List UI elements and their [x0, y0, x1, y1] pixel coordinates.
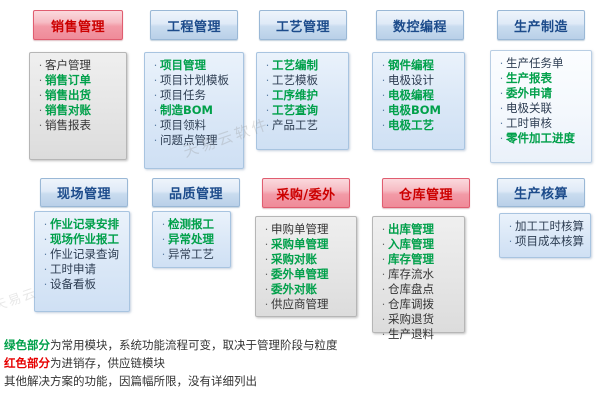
bullet-icon: · — [379, 282, 388, 297]
module-item[interactable]: ·项目任务 — [151, 88, 239, 103]
module-item[interactable]: ·项目领料 — [151, 118, 239, 133]
bullet-icon: · — [151, 58, 160, 73]
module-header-label: 销售管理 — [51, 16, 105, 35]
module-item-label: 委外单管理 — [271, 267, 329, 282]
bullet-icon: · — [262, 297, 271, 312]
module-item-label: 采购退货 — [388, 312, 434, 327]
module-item-label: 工序维护 — [272, 88, 318, 103]
module-item-label: 供应商管理 — [271, 297, 329, 312]
module-item[interactable]: ·客户管理 — [36, 58, 122, 73]
module-item-label: 电极工艺 — [388, 118, 434, 133]
module-header-label: 仓库管理 — [399, 184, 453, 203]
module-item-label: 工艺编制 — [272, 58, 318, 73]
module-body-sales-management: ·客户管理·销售订单·销售出货·销售对账·销售报表 — [29, 52, 127, 160]
bullet-icon: · — [263, 58, 272, 73]
module-item[interactable]: ·产品工艺 — [263, 118, 344, 133]
module-item-label: 生产任务单 — [506, 56, 564, 71]
bullet-icon: · — [506, 234, 515, 249]
module-item-label: 委外对账 — [271, 282, 317, 297]
module-item[interactable]: ·销售报表 — [36, 118, 122, 133]
module-item-label: 项目计划模板 — [160, 73, 229, 88]
module-item-label: 生产报表 — [506, 71, 552, 86]
bullet-icon: · — [263, 118, 272, 133]
module-item-label: 设备看板 — [50, 277, 96, 292]
bullet-icon: · — [41, 232, 50, 247]
module-item[interactable]: ·采购退货 — [379, 312, 460, 327]
module-header-label: 生产制造 — [514, 16, 568, 35]
module-item[interactable]: ·委外对账 — [262, 282, 352, 297]
bullet-icon: · — [379, 267, 388, 282]
legend-red-text: 为进销存，供应链模块 — [50, 356, 165, 370]
bullet-icon: · — [151, 103, 160, 118]
bullet-icon: · — [36, 73, 45, 88]
module-header-production-manufacturing[interactable]: 生产制造 — [497, 10, 585, 40]
module-item-label: 入库管理 — [388, 237, 434, 252]
module-item-label: 电极编程 — [388, 88, 434, 103]
module-item-label: 现场作业报工 — [50, 232, 119, 247]
module-item[interactable]: ·采购单管理 — [262, 237, 352, 252]
bullet-icon: · — [379, 312, 388, 327]
module-body-engineering-management: ·项目管理·项目计划模板·项目任务·制造BOM·项目领料·问题点管理 — [144, 52, 244, 169]
module-item[interactable]: ·销售出货 — [36, 88, 122, 103]
module-item[interactable]: ·项目管理 — [151, 58, 239, 73]
module-header-engineering-management[interactable]: 工程管理 — [150, 10, 238, 40]
module-item[interactable]: ·仓库盘点 — [379, 282, 460, 297]
module-header-purchase-outsourcing[interactable]: 采购/委外 — [262, 178, 350, 208]
bullet-icon: · — [263, 103, 272, 118]
module-item-label: 作业记录查询 — [50, 247, 119, 262]
bullet-icon: · — [41, 217, 50, 232]
module-item[interactable]: ·现场作业报工 — [41, 232, 125, 247]
bullet-icon: · — [379, 58, 388, 73]
module-header-field-management[interactable]: 现场管理 — [40, 178, 128, 207]
module-item-label: 制造BOM — [160, 103, 213, 118]
module-item[interactable]: ·作业记录查询 — [41, 247, 125, 262]
legend-red-key: 红色部分 — [4, 356, 50, 370]
module-item[interactable]: ·工艺查询 — [263, 103, 344, 118]
module-item[interactable]: ·检测报工 — [159, 217, 226, 232]
module-item-label: 电极BOM — [388, 103, 441, 118]
module-item[interactable]: ·工序维护 — [263, 88, 344, 103]
module-item-label: 仓库调拨 — [388, 297, 434, 312]
module-header-warehouse-management[interactable]: 仓库管理 — [382, 178, 470, 208]
legend-line-note: 其他解决方案的功能，因篇幅所限，没有详细列出 — [4, 372, 424, 390]
module-item[interactable]: ·钢件编程 — [379, 58, 460, 73]
bullet-icon: · — [36, 103, 45, 118]
bullet-icon: · — [36, 58, 45, 73]
module-item[interactable]: ·供应商管理 — [262, 297, 352, 312]
bullet-icon: · — [497, 71, 506, 86]
module-item-label: 采购单管理 — [271, 237, 329, 252]
bullet-icon: · — [263, 73, 272, 88]
module-item[interactable]: ·库存流水 — [379, 267, 460, 282]
module-item[interactable]: ·电极关联 — [497, 101, 587, 116]
module-item[interactable]: ·制造BOM — [151, 103, 239, 118]
bullet-icon: · — [262, 252, 271, 267]
module-item[interactable]: ·工时申请 — [41, 262, 125, 277]
module-item-label: 客户管理 — [45, 58, 91, 73]
bullet-icon: · — [379, 88, 388, 103]
bullet-icon: · — [159, 247, 168, 262]
bullet-icon: · — [379, 237, 388, 252]
module-header-label: 生产核算 — [514, 183, 568, 202]
module-item[interactable]: ·异常工艺 — [159, 247, 226, 262]
diagram-canvas: 销售管理·客户管理·销售订单·销售出货·销售对账·销售报表工程管理·项目管理·项… — [0, 0, 600, 400]
module-item[interactable]: ·仓库调拨 — [379, 297, 460, 312]
module-item[interactable]: ·电极编程 — [379, 88, 460, 103]
module-item[interactable]: ·工艺模板 — [263, 73, 344, 88]
module-item-label: 异常处理 — [168, 232, 214, 247]
module-header-sales-management[interactable]: 销售管理 — [33, 10, 123, 40]
module-body-field-management: ·作业记录安排·现场作业报工·作业记录查询·工时申请·设备看板 — [34, 211, 130, 312]
module-header-quality-management[interactable]: 品质管理 — [152, 178, 240, 207]
bullet-icon: · — [151, 73, 160, 88]
module-item-label: 产品工艺 — [272, 118, 318, 133]
module-item[interactable]: ·项目成本核算 — [506, 234, 586, 249]
module-item[interactable]: ·电极BOM — [379, 103, 460, 118]
module-item-label: 工时审核 — [506, 116, 552, 131]
module-item[interactable]: ·入库管理 — [379, 237, 460, 252]
legend-line-green: 绿色部分为常用模块，系统功能流程可变，取决于管理阶段与粒度 — [4, 336, 424, 354]
module-item-label: 问题点管理 — [160, 133, 218, 148]
bullet-icon: · — [262, 267, 271, 282]
bullet-icon: · — [36, 88, 45, 103]
bullet-icon: · — [151, 133, 160, 148]
bullet-icon: · — [379, 103, 388, 118]
module-item[interactable]: ·工艺编制 — [263, 58, 344, 73]
module-item-label: 库存流水 — [388, 267, 434, 282]
bullet-icon: · — [497, 56, 506, 71]
module-item[interactable]: ·加工工时核算 — [506, 219, 586, 234]
module-header-label: 数控编程 — [393, 16, 447, 35]
module-item-label: 销售对账 — [45, 103, 91, 118]
module-header-label: 工程管理 — [167, 16, 221, 35]
module-item-label: 销售订单 — [45, 73, 91, 88]
module-item-label: 项目管理 — [160, 58, 206, 73]
bullet-icon: · — [497, 131, 506, 146]
module-item[interactable]: ·采购对账 — [262, 252, 352, 267]
bullet-icon: · — [497, 86, 506, 101]
module-item-label: 电极关联 — [506, 101, 552, 116]
bullet-icon: · — [263, 88, 272, 103]
bullet-icon: · — [262, 222, 271, 237]
module-header-label: 工艺管理 — [276, 16, 330, 35]
module-item[interactable]: ·委外申请 — [497, 86, 587, 101]
module-item[interactable]: ·电极工艺 — [379, 118, 460, 133]
bullet-icon: · — [151, 118, 160, 133]
module-header-nc-programming[interactable]: 数控编程 — [376, 10, 464, 40]
module-item[interactable]: ·委外单管理 — [262, 267, 352, 282]
legend-green-key: 绿色部分 — [4, 338, 50, 352]
module-item-label: 电极设计 — [388, 73, 434, 88]
bullet-icon: · — [262, 282, 271, 297]
module-item[interactable]: ·异常处理 — [159, 232, 226, 247]
module-item-label: 采购对账 — [271, 252, 317, 267]
bullet-icon: · — [379, 73, 388, 88]
module-item-label: 项目领料 — [160, 118, 206, 133]
module-item-label: 检测报工 — [168, 217, 214, 232]
legend-green-text: 为常用模块，系统功能流程可变，取决于管理阶段与粒度 — [50, 338, 338, 352]
module-item[interactable]: ·作业记录安排 — [41, 217, 125, 232]
module-item-label: 项目任务 — [160, 88, 206, 103]
module-body-production-accounting: ·加工工时核算·项目成本核算 — [499, 213, 591, 258]
module-item-label: 加工工时核算 — [515, 219, 584, 234]
bullet-icon: · — [262, 237, 271, 252]
module-item-label: 委外申请 — [506, 86, 552, 101]
module-body-purchase-outsourcing: ·申购单管理·采购单管理·采购对账·委外单管理·委外对账·供应商管理 — [255, 216, 357, 317]
module-item[interactable]: ·设备看板 — [41, 277, 125, 292]
module-body-warehouse-management: ·出库管理·入库管理·库存管理·库存流水·仓库盘点·仓库调拨·采购退货·生产退料 — [372, 216, 465, 333]
module-item-label: 销售出货 — [45, 88, 91, 103]
bullet-icon: · — [506, 219, 515, 234]
module-item-label: 工时申请 — [50, 262, 96, 277]
module-item[interactable]: ·电极设计 — [379, 73, 460, 88]
module-item[interactable]: ·零件加工进度 — [497, 131, 587, 146]
module-item[interactable]: ·销售对账 — [36, 103, 122, 118]
module-header-label: 采购/委外 — [276, 184, 335, 203]
module-item[interactable]: ·生产任务单 — [497, 56, 587, 71]
module-item[interactable]: ·工时审核 — [497, 116, 587, 131]
module-item[interactable]: ·问题点管理 — [151, 133, 239, 148]
bullet-icon: · — [41, 262, 50, 277]
module-header-label: 现场管理 — [57, 183, 111, 202]
module-item[interactable]: ·生产报表 — [497, 71, 587, 86]
module-item[interactable]: ·申购单管理 — [262, 222, 352, 237]
bullet-icon: · — [41, 277, 50, 292]
bullet-icon: · — [379, 222, 388, 237]
module-item-label: 零件加工进度 — [506, 131, 575, 146]
bullet-icon: · — [497, 116, 506, 131]
bullet-icon: · — [497, 101, 506, 116]
module-item-label: 工艺查询 — [272, 103, 318, 118]
bullet-icon: · — [159, 232, 168, 247]
module-item-label: 申购单管理 — [271, 222, 329, 237]
module-item-label: 工艺模板 — [272, 73, 318, 88]
module-header-production-accounting[interactable]: 生产核算 — [497, 178, 585, 207]
legend: 绿色部分为常用模块，系统功能流程可变，取决于管理阶段与粒度 红色部分为进销存，供… — [4, 336, 424, 390]
module-item[interactable]: ·出库管理 — [379, 222, 460, 237]
bullet-icon: · — [379, 252, 388, 267]
module-body-quality-management: ·检测报工·异常处理·异常工艺 — [152, 211, 231, 268]
bullet-icon: · — [379, 297, 388, 312]
bullet-icon: · — [41, 247, 50, 262]
module-item-label: 仓库盘点 — [388, 282, 434, 297]
module-body-process-management: ·工艺编制·工艺模板·工序维护·工艺查询·产品工艺 — [256, 52, 349, 150]
module-item-label: 钢件编程 — [388, 58, 434, 73]
module-item-label: 销售报表 — [45, 118, 91, 133]
module-item[interactable]: ·销售订单 — [36, 73, 122, 88]
module-header-label: 品质管理 — [169, 183, 223, 202]
module-item[interactable]: ·库存管理 — [379, 252, 460, 267]
module-item[interactable]: ·项目计划模板 — [151, 73, 239, 88]
module-item-label: 异常工艺 — [168, 247, 214, 262]
module-item-label: 作业记录安排 — [50, 217, 119, 232]
module-item-label: 项目成本核算 — [515, 234, 584, 249]
module-item-label: 出库管理 — [388, 222, 434, 237]
legend-line-red: 红色部分为进销存，供应链模块 — [4, 354, 424, 372]
module-item-label: 库存管理 — [388, 252, 434, 267]
module-body-nc-programming: ·钢件编程·电极设计·电极编程·电极BOM·电极工艺 — [372, 52, 465, 150]
bullet-icon: · — [36, 118, 45, 133]
bullet-icon: · — [151, 88, 160, 103]
bullet-icon: · — [379, 118, 388, 133]
module-header-process-management[interactable]: 工艺管理 — [259, 10, 347, 40]
bullet-icon: · — [159, 217, 168, 232]
module-body-production-manufacturing: ·生产任务单·生产报表·委外申请·电极关联·工时审核·零件加工进度 — [490, 50, 592, 163]
